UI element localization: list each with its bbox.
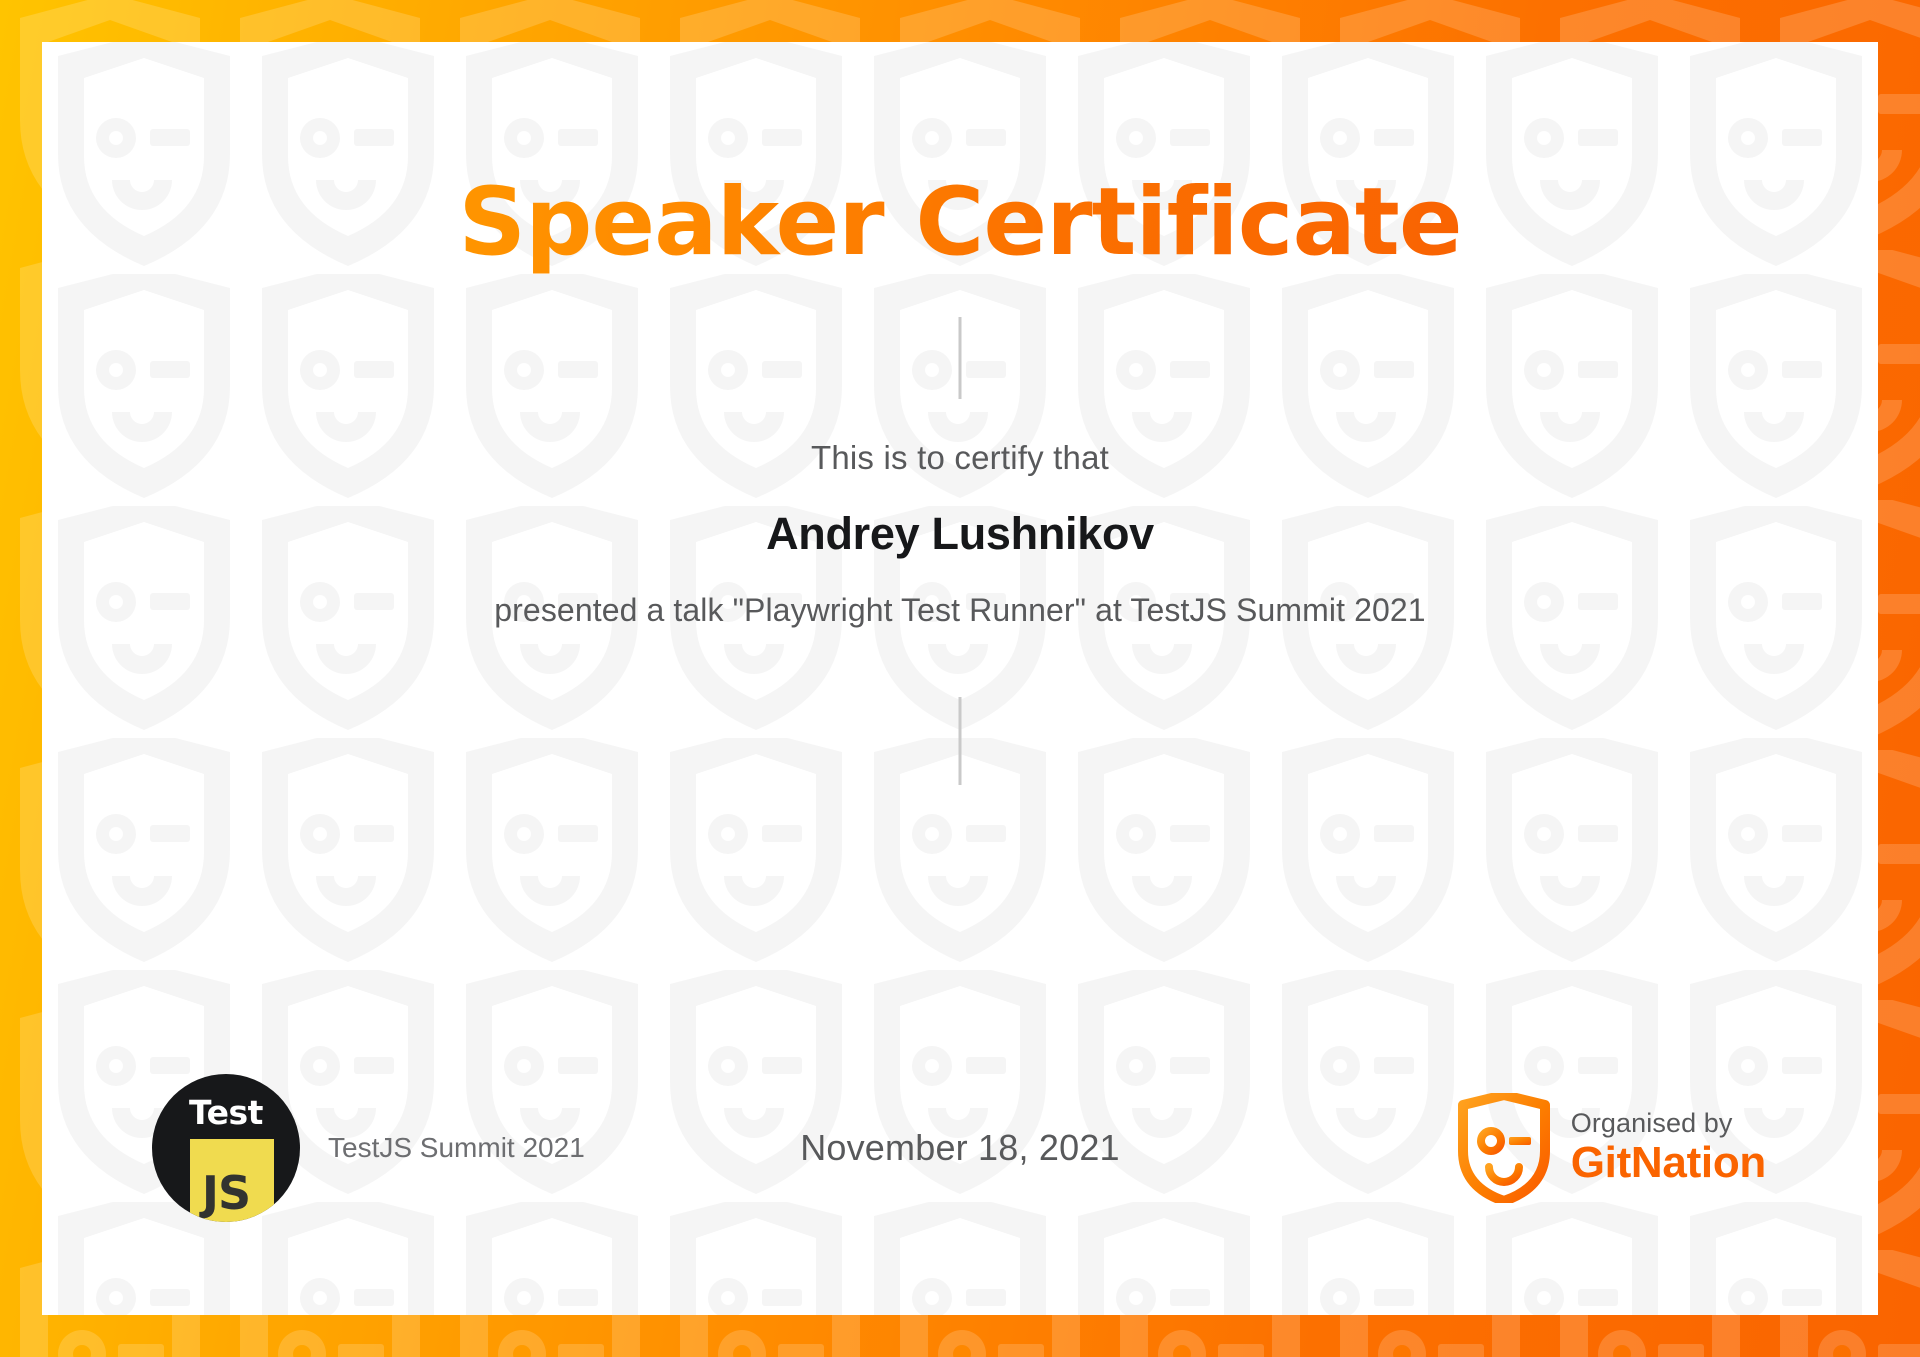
certify-line: This is to certify that (42, 438, 1878, 478)
testjs-logo-top-word: Test (152, 1093, 300, 1132)
certificate-date: November 18, 2021 (800, 1127, 1120, 1169)
gitnation-shield-face-icon (1457, 1093, 1551, 1203)
divider-bottom (959, 697, 962, 785)
certificate-title: Speaker Certificate (42, 172, 1878, 274)
talk-description: presented a talk "Playwright Test Runner… (42, 592, 1878, 629)
certificate-footer: Test JS TestJS Summit 2021 November 18, … (42, 1073, 1878, 1223)
divider-top (959, 317, 962, 399)
event-name: TestJS Summit 2021 (328, 1132, 585, 1164)
footer-event: Test JS TestJS Summit 2021 (152, 1073, 585, 1223)
organiser-name: GitNation (1571, 1138, 1766, 1187)
organised-by-label: Organised by (1571, 1108, 1766, 1138)
testjs-logo-bottom-word: JS (152, 1166, 300, 1220)
certificate-card: Speaker Certificate This is to certify t… (42, 42, 1878, 1315)
recipient-name: Andrey Lushnikov (42, 508, 1878, 560)
certificate-body: This is to certify that Andrey Lushnikov… (42, 438, 1878, 629)
certificate-title-text: Speaker Certificate (458, 172, 1461, 274)
speaker-certificate: Speaker Certificate This is to certify t… (0, 0, 1920, 1357)
organiser-text: Organised by GitNation (1571, 1108, 1766, 1188)
testjs-summit-logo-icon: Test JS (152, 1074, 300, 1222)
footer-organiser: Organised by GitNation (1457, 1073, 1766, 1223)
